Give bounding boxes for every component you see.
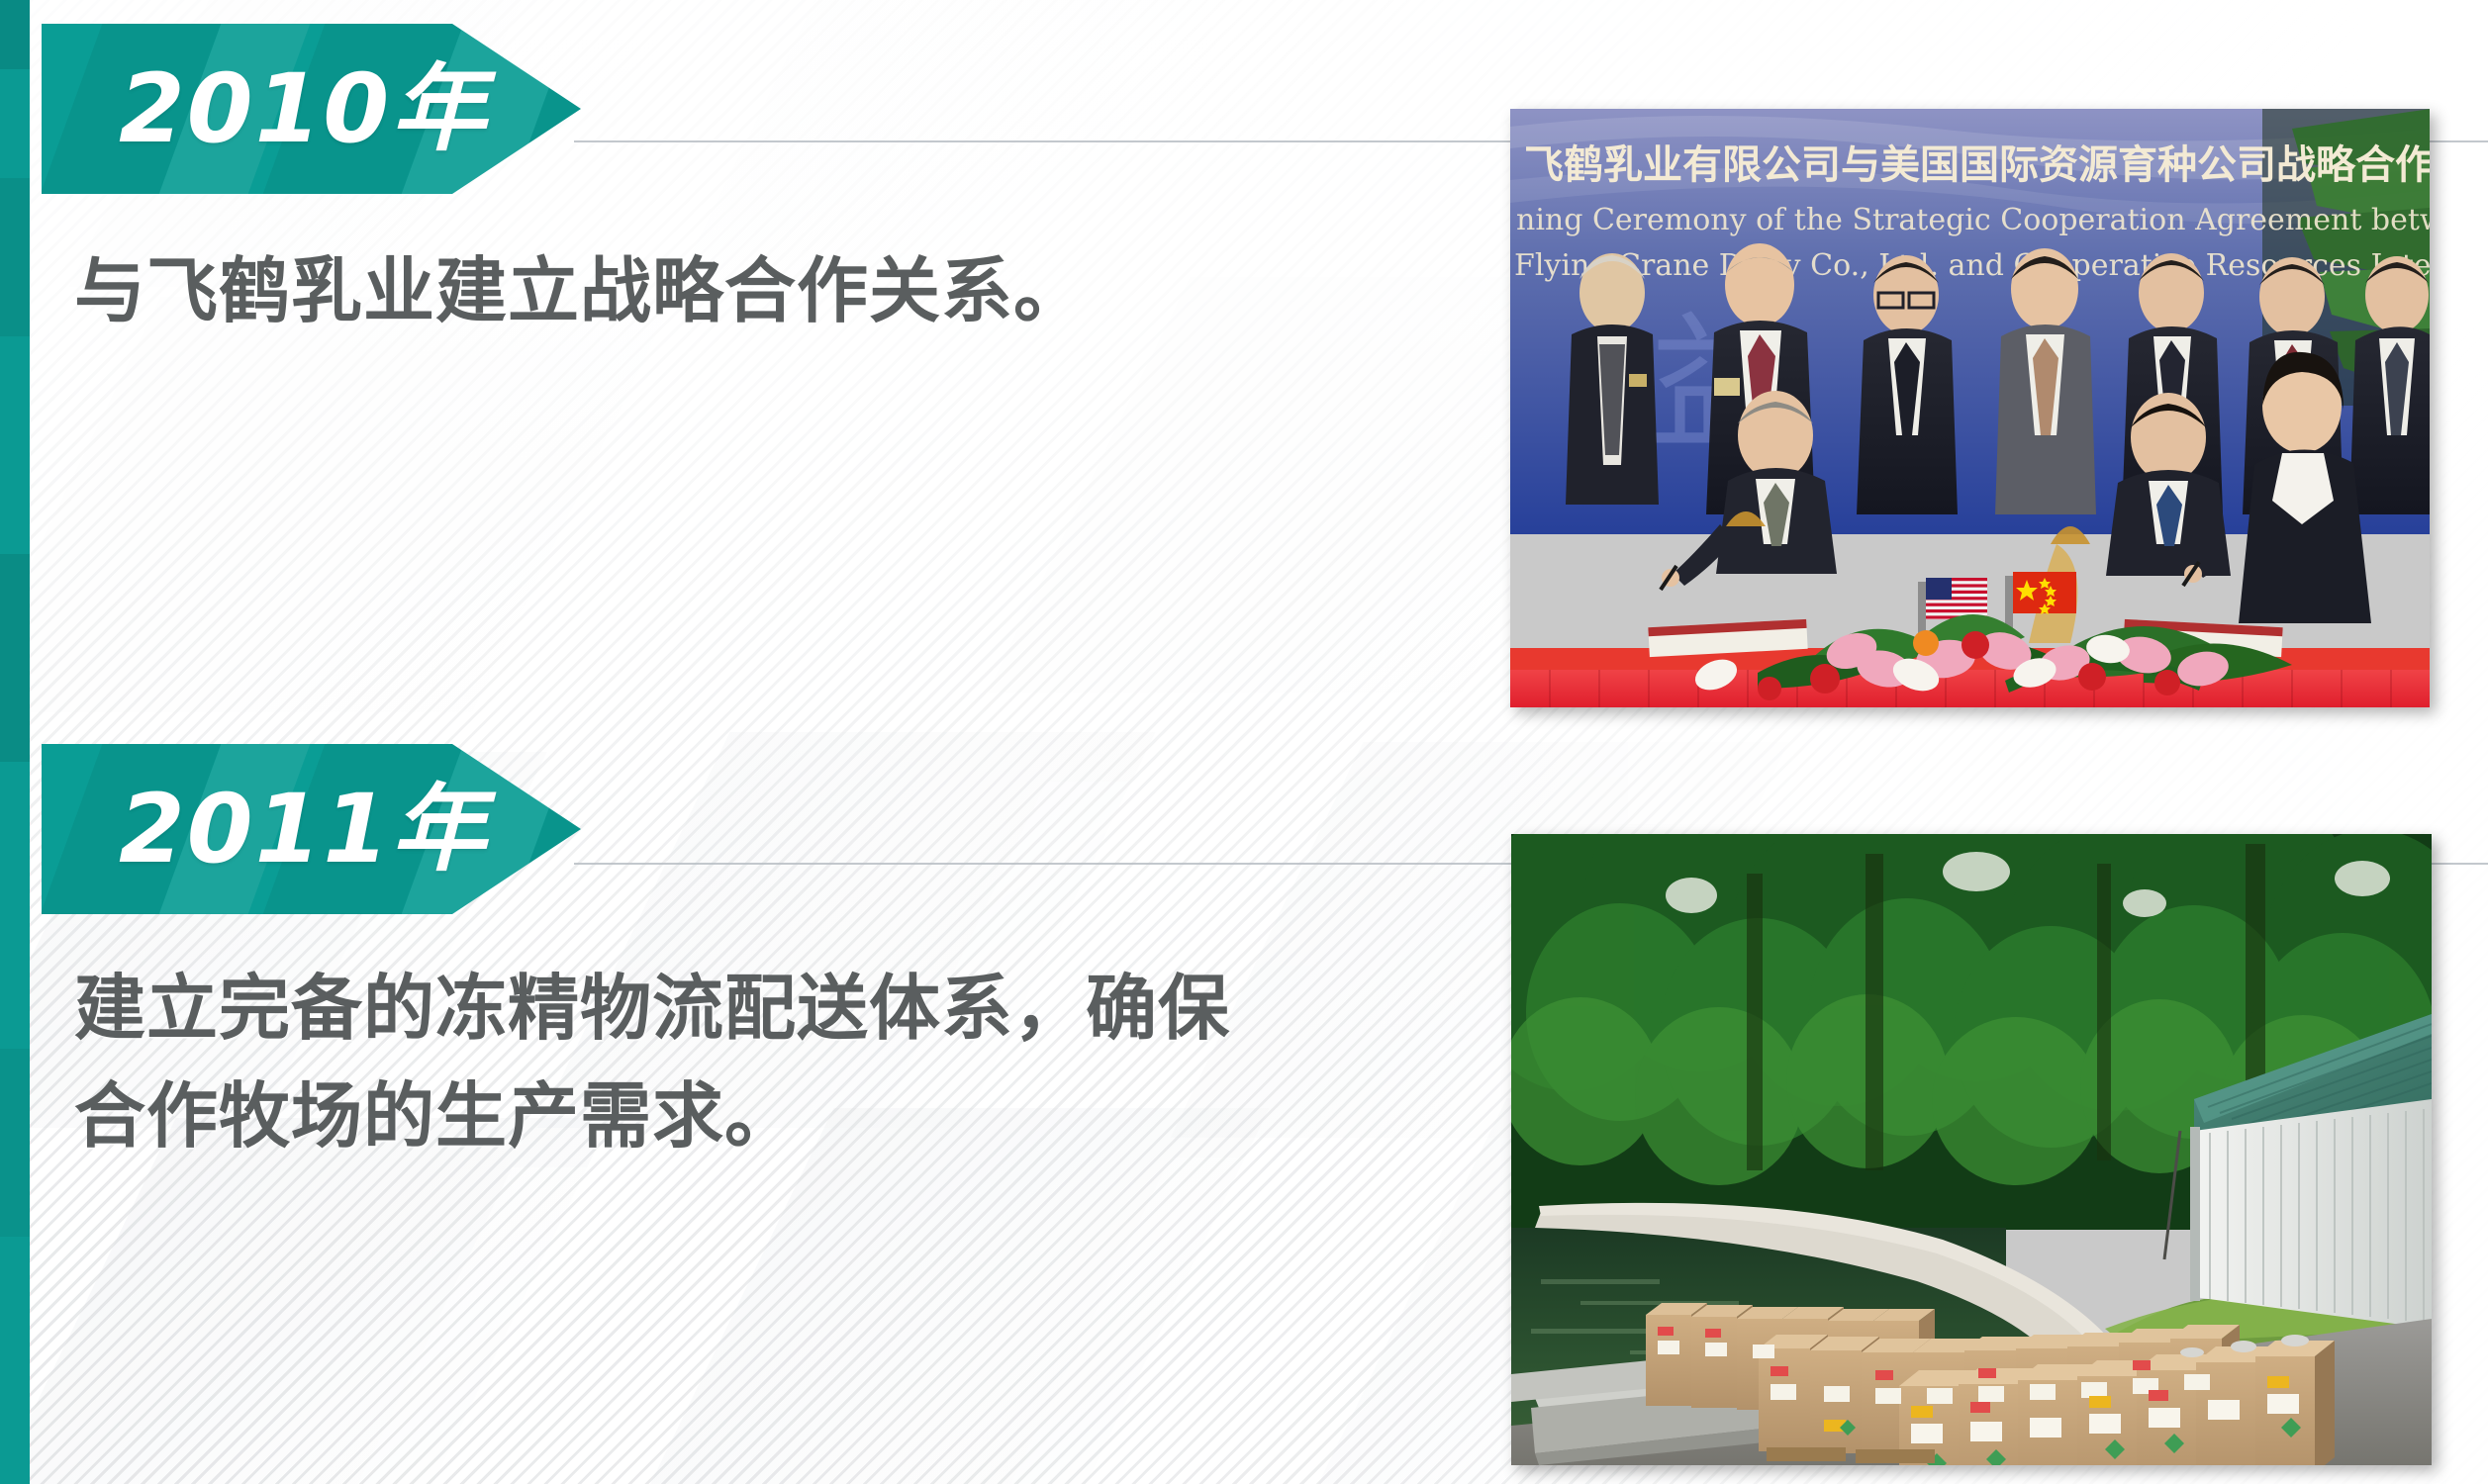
photo-signing-ceremony-image: 飞鹤乳业有限公司与美国国际资源育种公司战略合作协议 ning Ceremony … <box>1510 109 2430 707</box>
left-accent-stripe-facet <box>0 0 30 69</box>
svg-text:飞鹤乳业有限公司与美国国际资源育种公司战略合作协议: 飞鹤乳业有限公司与美国国际资源育种公司战略合作协议 <box>1524 142 2430 188</box>
photo-frozen-semen-shipment-image <box>1511 834 2432 1465</box>
left-accent-stripe-facet <box>0 554 30 762</box>
slide-canvas: 2010年 与飞鹤乳业建立战略合作关系。 <box>0 0 2488 1484</box>
photo-signing-ceremony[interactable]: 飞鹤乳业有限公司与美国国际资源育种公司战略合作协议 ning Ceremony … <box>1510 109 2430 707</box>
left-accent-stripe <box>0 0 30 1484</box>
left-accent-stripe-facet <box>0 178 30 336</box>
body-text-2011: 建立完备的冻精物流配送体系，确保 合作牧场的生产需求。 <box>74 955 1480 1171</box>
background-chevron-shape <box>493 326 1191 742</box>
background-chevron-shape <box>0 297 675 712</box>
svg-text:ning Ceremony of the Strategic: ning Ceremony of the Strategic Cooperati… <box>1516 203 2430 237</box>
year-label-2010: 2010年 <box>119 61 488 156</box>
background-chevron-shape <box>319 1167 947 1484</box>
photo-frozen-semen-shipment[interactable] <box>1511 834 2432 1465</box>
body-text-2010: 与飞鹤乳业建立战略合作关系。 <box>74 237 1460 345</box>
background-chevron-shape <box>968 1158 1606 1484</box>
year-label-2011: 2011年 <box>119 782 488 877</box>
left-accent-stripe-facet <box>0 1049 30 1237</box>
background-chevron-shape <box>0 1118 612 1484</box>
